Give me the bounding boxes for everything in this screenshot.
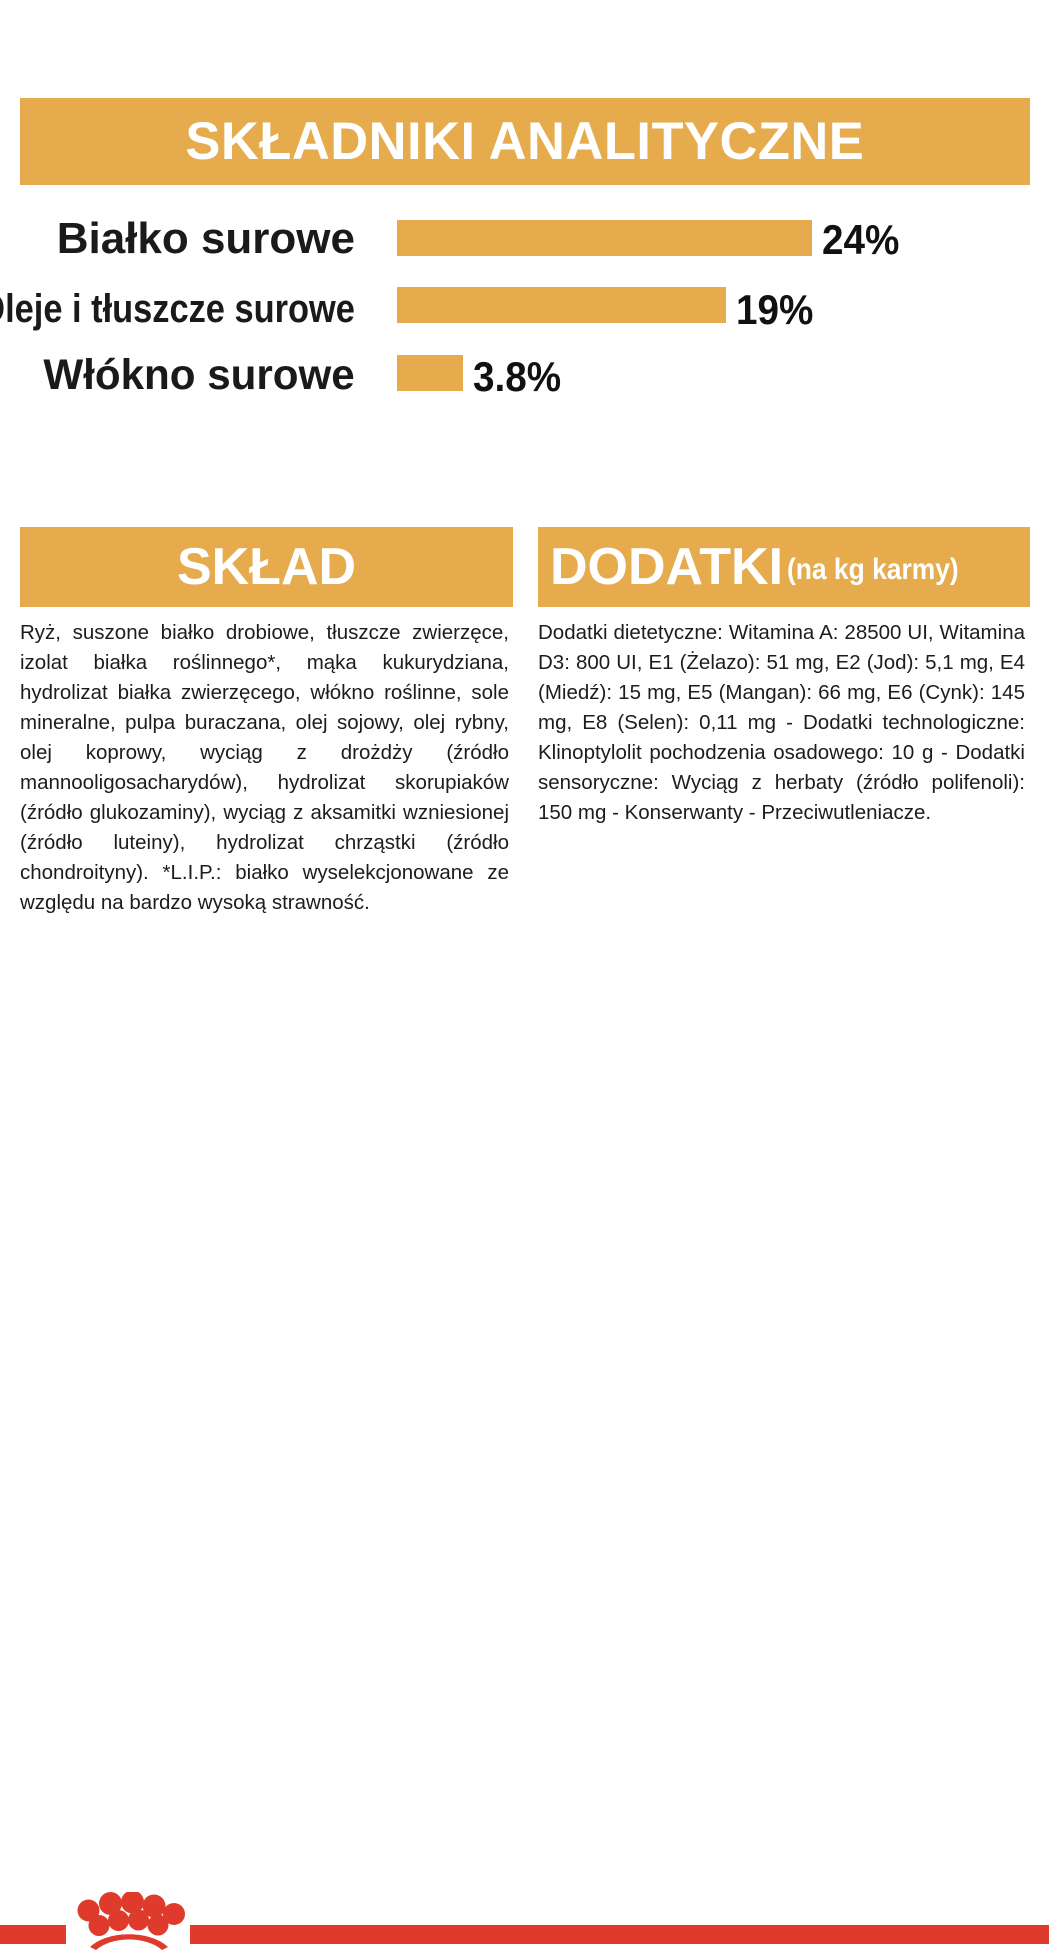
footer [0, 940, 1049, 1049]
footer-rule-left [0, 1925, 66, 1944]
chart-bar-label: Włókno surowe [44, 354, 355, 397]
chart-row: Białko surowe 24% [0, 205, 1049, 267]
composition-section-header: SKŁAD [20, 527, 513, 607]
analytical-constituents-chart: Białko surowe 24% Oleje i tłuszcze surow… [0, 205, 1049, 405]
chart-bar-value: 3.8% [473, 356, 561, 398]
royal-canin-crown-icon [70, 1892, 188, 1950]
chart-row: Włókno surowe 3.8% [0, 341, 1049, 403]
analytical-constituents-banner: SKŁADNIKI ANALITYCZNE [20, 98, 1030, 185]
additives-section-header: DODATKI (na kg karmy) [538, 527, 1030, 607]
chart-bar [397, 287, 726, 323]
composition-text: Ryż, suszone białko drobiowe, tłuszcze z… [20, 618, 509, 918]
page-title: SKŁADNIKI ANALITYCZNE [186, 115, 865, 168]
footer-rule-right [190, 1925, 1049, 1944]
chart-bar-label: Białko surowe [57, 217, 355, 261]
chart-bar [397, 220, 812, 256]
chart-row: Oleje i tłuszcze surowe 19% [0, 273, 1049, 335]
composition-section-title: SKŁAD [177, 541, 356, 593]
chart-bar-value: 19% [736, 289, 813, 331]
additives-section-title: DODATKI [550, 541, 783, 593]
chart-bar [397, 355, 463, 391]
additives-text: Dodatki dietetyczne: Witamina A: 28500 U… [538, 618, 1025, 828]
chart-bar-value: 24% [822, 219, 899, 261]
chart-bar-label: Oleje i tłuszcze surowe [0, 289, 355, 329]
additives-section-subtitle: (na kg karmy) [787, 555, 959, 585]
